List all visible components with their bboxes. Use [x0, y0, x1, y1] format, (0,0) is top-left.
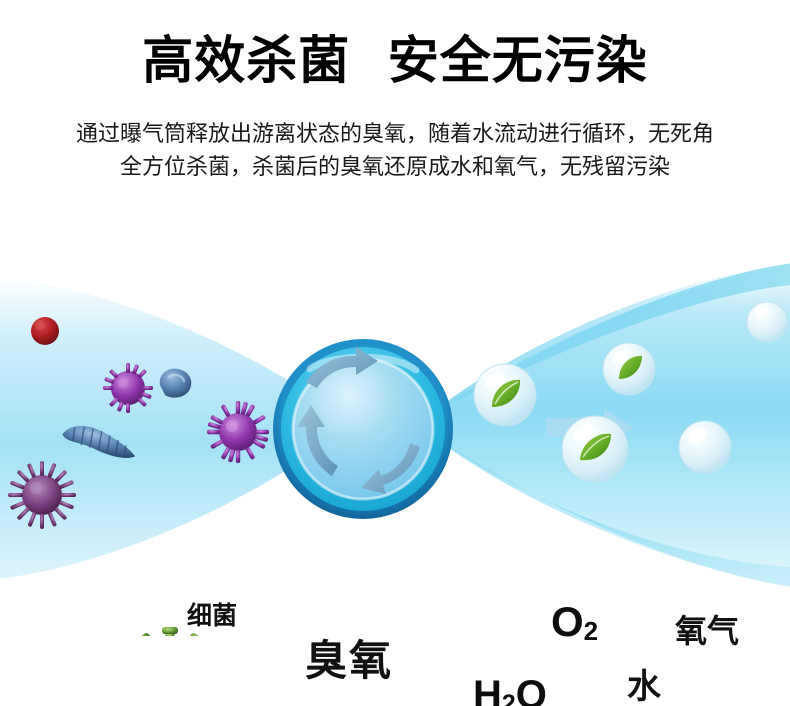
label-ozone: 臭氧 — [305, 640, 393, 682]
page-subtitle: 通过曝气筒释放出游离状态的臭氧，随着水流动进行循环，无死角 全方位杀菌，杀菌后的… — [0, 118, 790, 184]
label-water: 水 — [627, 670, 661, 704]
label-bacteria: 细菌 — [187, 603, 237, 628]
formula-o2: O2 — [551, 601, 598, 643]
label-oxygen: 氧气 — [675, 615, 739, 647]
formula-h2o: H2O — [473, 675, 547, 706]
subtitle-line-1: 通过曝气筒释放出游离状态的臭氧，随着水流动进行循环，无死角 — [0, 118, 790, 151]
diagram-label-layer: 细菌 霉菌 臭氧 O2 H2O 氧气 水 — [0, 236, 790, 636]
page-title: 高效杀菌 安全无污染 — [0, 33, 790, 91]
product-infographic-page: 高效杀菌 安全无污染 通过曝气筒释放出游离状态的臭氧，随着水流动进行循环，无死角… — [0, 0, 790, 706]
ozone-process-diagram: 细菌 霉菌 臭氧 O2 H2O 氧气 水 — [0, 236, 790, 636]
subtitle-line-2: 全方位杀菌，杀菌后的臭氧还原成水和氧气，无残留污染 — [0, 151, 790, 184]
